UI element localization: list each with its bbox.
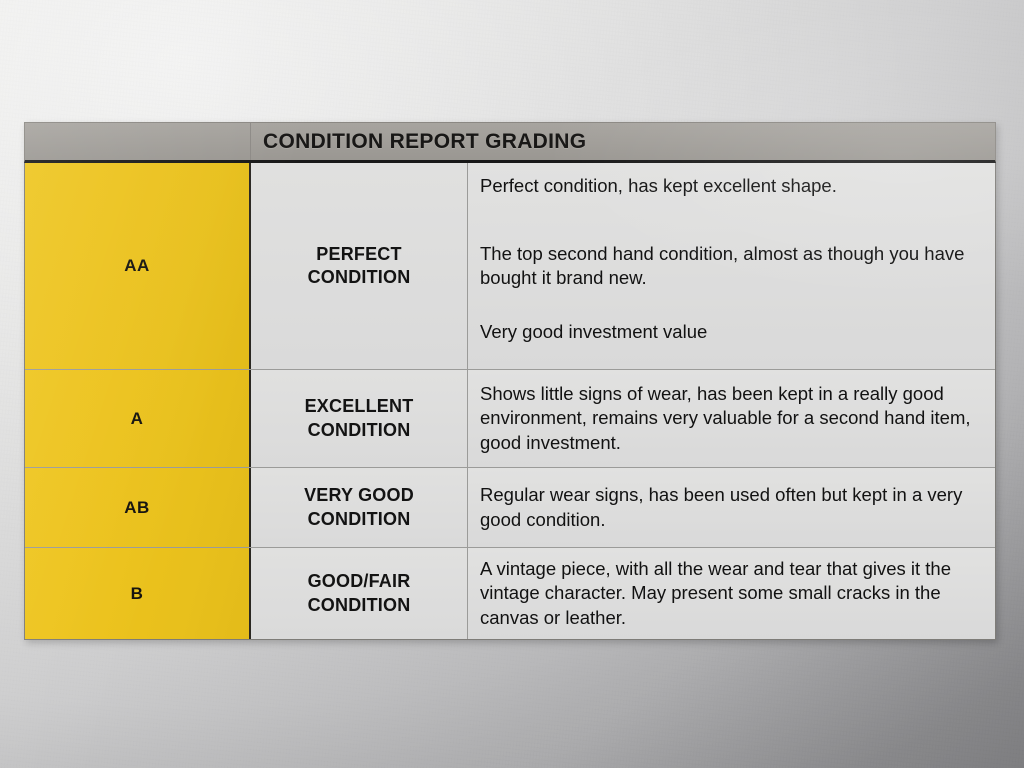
description-cell-b: A vintage piece, with all the wear and t… (468, 548, 995, 639)
condition-name-line-1: VERY GOOD (304, 484, 414, 507)
table-header-row: CONDITION REPORT GRADING (24, 122, 996, 163)
table-row: AB VERY GOOD CONDITION Regular wear sign… (25, 468, 995, 548)
description-paragraph: Very good investment value (480, 320, 981, 344)
description-paragraph: The top second hand condition, almost as… (480, 242, 981, 290)
table-row: B GOOD/FAIR CONDITION A vintage piece, w… (25, 548, 995, 639)
condition-name-cell-aa: PERFECT CONDITION (251, 163, 468, 369)
table-row: A EXCELLENT CONDITION Shows little signs… (25, 370, 995, 468)
condition-name-line-2: CONDITION (308, 419, 411, 442)
description-paragraph: Perfect condition, has kept excellent sh… (480, 174, 981, 198)
description-paragraph: A vintage piece, with all the wear and t… (480, 557, 981, 629)
grade-cell-ab: AB (25, 468, 251, 547)
condition-name-line-2: CONDITION (308, 266, 411, 289)
condition-report-grading-table: CONDITION REPORT GRADING AA PERFECT COND… (24, 122, 996, 640)
condition-name-line-1: PERFECT (316, 243, 401, 266)
condition-name-line-2: CONDITION (308, 594, 411, 617)
grade-cell-aa: AA (25, 163, 251, 369)
grade-cell-a: A (25, 370, 251, 467)
condition-name-line-2: CONDITION (308, 508, 411, 531)
table-body: AA PERFECT CONDITION Perfect condition, … (24, 163, 996, 640)
description-cell-ab: Regular wear signs, has been used often … (468, 468, 995, 547)
table-row: AA PERFECT CONDITION Perfect condition, … (25, 163, 995, 370)
condition-name-cell-a: EXCELLENT CONDITION (251, 370, 468, 467)
description-cell-a: Shows little signs of wear, has been kep… (468, 370, 995, 467)
condition-name-cell-b: GOOD/FAIR CONDITION (251, 548, 468, 639)
condition-name-line-1: GOOD/FAIR (308, 570, 411, 593)
header-spacer-cell (25, 123, 251, 160)
condition-name-cell-ab: VERY GOOD CONDITION (251, 468, 468, 547)
condition-name-line-1: EXCELLENT (305, 395, 414, 418)
description-cell-aa: Perfect condition, has kept excellent sh… (468, 163, 995, 369)
description-paragraph: Shows little signs of wear, has been kep… (480, 382, 981, 454)
grade-cell-b: B (25, 548, 251, 639)
description-paragraph: Regular wear signs, has been used often … (480, 483, 981, 531)
table-title: CONDITION REPORT GRADING (251, 123, 995, 160)
